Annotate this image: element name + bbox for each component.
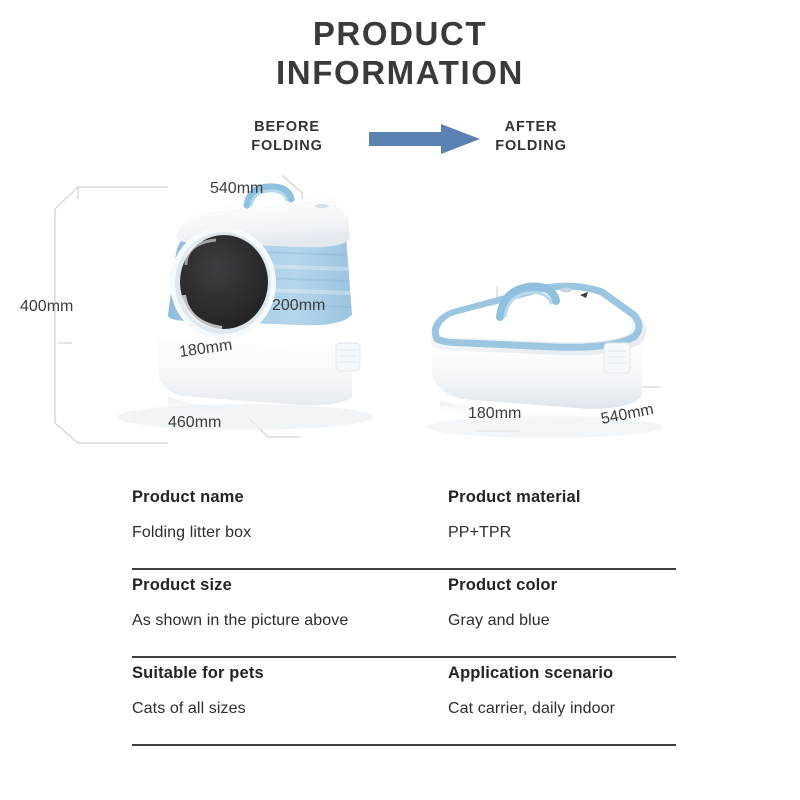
spec-cell-product-material: Product material PP+TPR	[448, 482, 676, 543]
spec-key: Suitable for pets	[132, 663, 444, 683]
arrow-right-icon	[369, 123, 481, 155]
spec-key: Application scenario	[448, 663, 676, 683]
spec-value: As shown in the picture above	[132, 611, 444, 631]
dimension-depth-460: 460mm	[168, 414, 221, 431]
spec-key: Product material	[448, 487, 676, 507]
before-folding-label: BEFORE FOLDING	[212, 118, 362, 156]
dimension-width-540: 540mm	[210, 180, 263, 197]
spec-value: Folding litter box	[132, 523, 444, 543]
spec-value: Cats of all sizes	[132, 699, 444, 719]
before-folding-line-1: BEFORE	[254, 119, 320, 135]
spec-cell-product-size: Product size As shown in the picture abo…	[132, 570, 444, 631]
spec-value: Cat carrier, daily indoor	[448, 699, 676, 719]
spec-key: Product name	[132, 487, 444, 507]
unfolded-litter-box	[117, 187, 373, 430]
spec-cell-product-name: Product name Folding litter box	[132, 482, 444, 543]
dimension-height-400: 400mm	[20, 298, 73, 315]
spec-cell-application-scenario: Application scenario Cat carrier, daily …	[448, 658, 676, 719]
title-line-1: PRODUCT	[0, 14, 800, 53]
specification-table: Product name Folding litter box Product …	[132, 482, 676, 746]
spec-key: Product size	[132, 575, 444, 595]
dimension-door-200: 200mm	[272, 297, 325, 314]
spec-value: PP+TPR	[448, 523, 676, 543]
after-folding-line-1: AFTER	[505, 119, 558, 135]
before-folding-line-2: FOLDING	[212, 137, 362, 156]
product-illustration: 540mm 400mm 200mm 180mm 460mm 180mm 540m…	[0, 165, 800, 465]
table-row: Suitable for pets Cats of all sizes Appl…	[132, 658, 676, 746]
spec-cell-product-color: Product color Gray and blue	[448, 570, 676, 631]
dimension-folded-height-180: 180mm	[468, 405, 521, 422]
title-line-2: INFORMATION	[0, 53, 800, 92]
table-row: Product size As shown in the picture abo…	[132, 570, 676, 658]
spec-cell-suitable-for-pets: Suitable for pets Cats of all sizes	[132, 658, 444, 719]
table-row: Product name Folding litter box Product …	[132, 482, 676, 570]
spec-value: Gray and blue	[448, 611, 676, 631]
page-title: PRODUCT INFORMATION	[0, 14, 800, 92]
spec-key: Product color	[448, 575, 676, 595]
